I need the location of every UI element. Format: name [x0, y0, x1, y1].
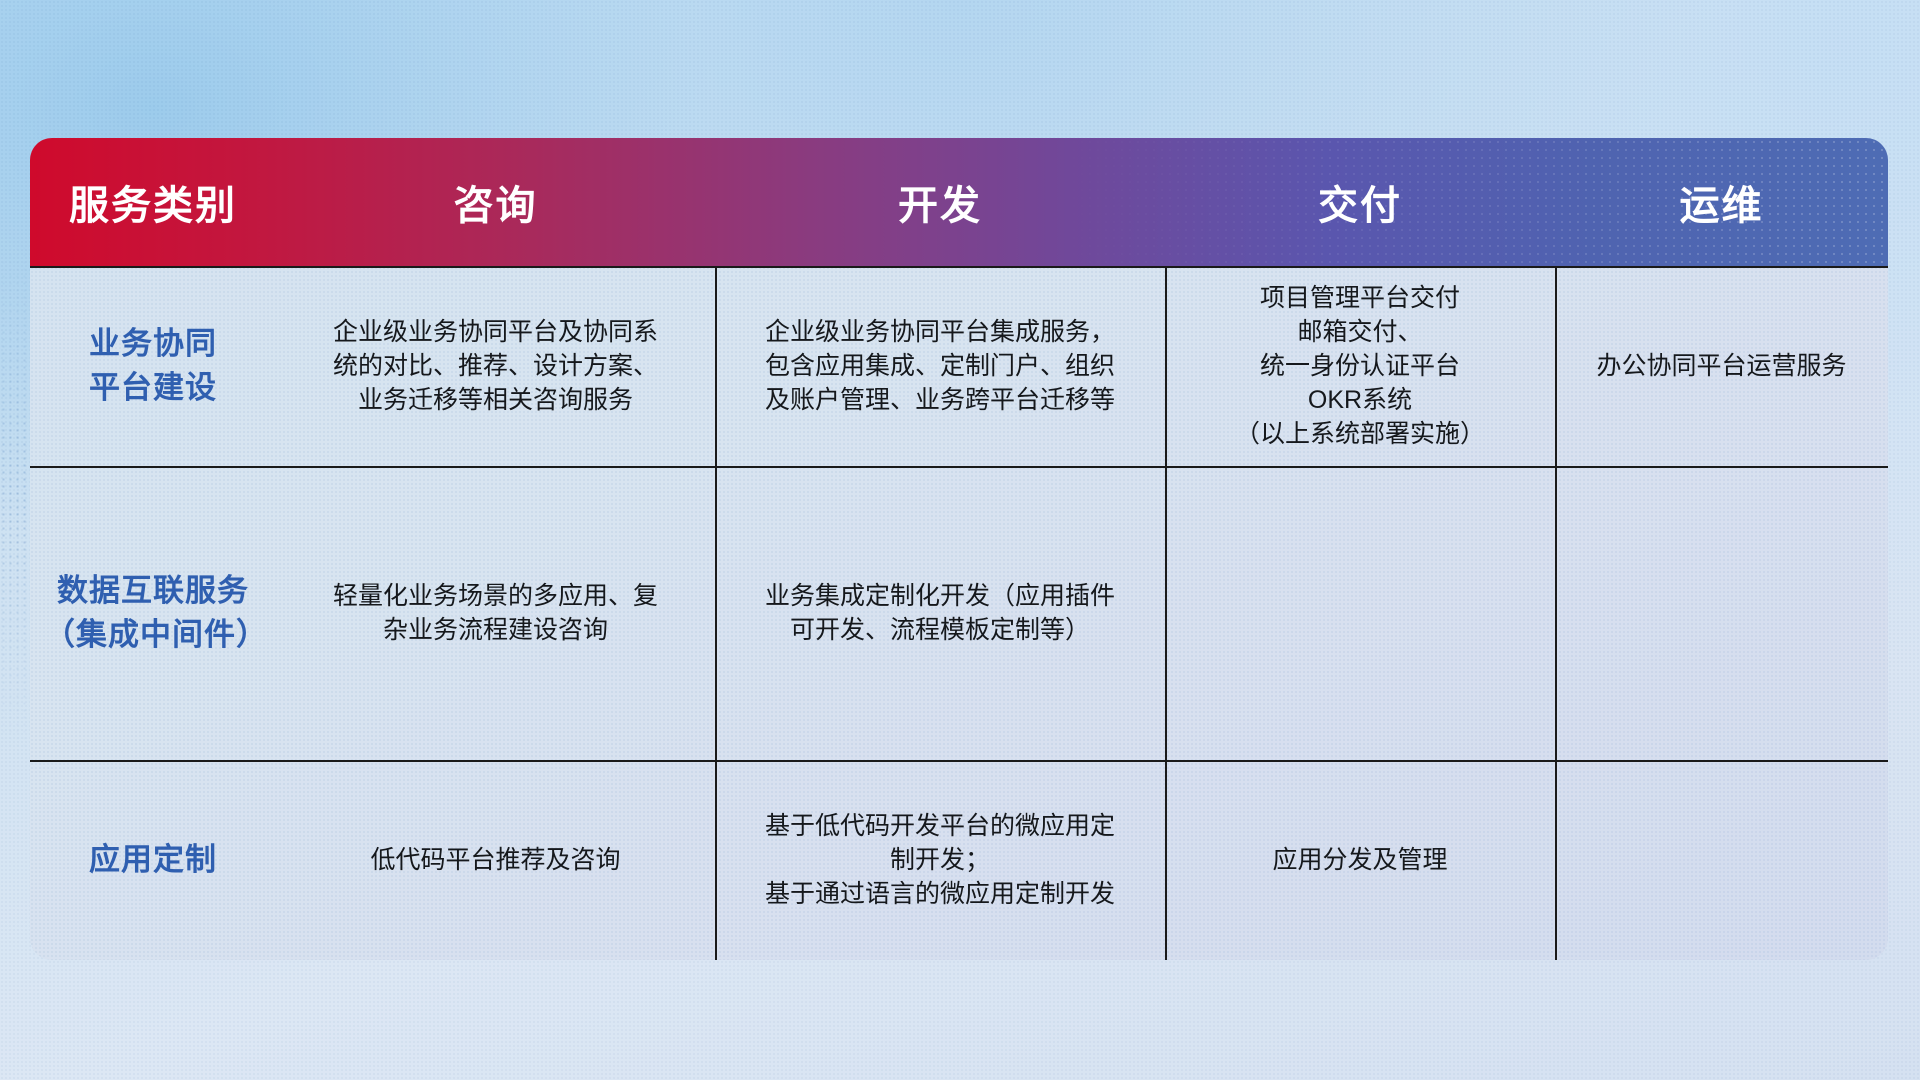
- cell-1-develop: 企业级业务协同平台集成服务， 包含应用集成、定制门户、组织 及账户管理、业务跨平…: [715, 315, 1165, 417]
- row-divider-top: [30, 266, 1888, 268]
- column-header-operate: 运维: [1555, 173, 1888, 231]
- table-header-row: 服务类别 咨询 开发 交付 运维: [30, 138, 1888, 266]
- service-category-table: 服务类别 咨询 开发 交付 运维 业务协同 平台建设 企业级业务协同平台及协同系…: [30, 138, 1888, 960]
- table-row: 数据互联服务 （集成中间件） 轻量化业务场景的多应用、复 杂业务流程建设咨询 业…: [30, 466, 1888, 760]
- row-label-2: 数据互联服务 （集成中间件）: [30, 569, 276, 657]
- column-header-consult: 咨询: [276, 173, 715, 231]
- column-divider-deliver-operate: [1555, 266, 1557, 960]
- cell-2-develop: 业务集成定制化开发（应用插件 可开发、流程模板定制等）: [715, 579, 1165, 647]
- row-divider-1-2: [30, 466, 1888, 468]
- row-label-1: 业务协同 平台建设: [30, 322, 276, 410]
- cell-3-deliver: 应用分发及管理: [1165, 843, 1555, 877]
- cell-3-consult: 低代码平台推荐及咨询: [276, 843, 715, 877]
- cell-1-operate: 办公协同平台运营服务: [1555, 349, 1888, 383]
- cell-1-deliver: 项目管理平台交付 邮箱交付、 统一身份认证平台 OKR系统 （以上系统部署实施）: [1165, 281, 1555, 451]
- table-row: 业务协同 平台建设 企业级业务协同平台及协同系 统的对比、推荐、设计方案、 业务…: [30, 266, 1888, 466]
- cell-2-consult: 轻量化业务场景的多应用、复 杂业务流程建设咨询: [276, 579, 715, 647]
- table-body: 业务协同 平台建设 企业级业务协同平台及协同系 统的对比、推荐、设计方案、 业务…: [30, 266, 1888, 960]
- column-header-develop: 开发: [715, 173, 1165, 231]
- column-divider-develop-deliver: [1165, 266, 1167, 960]
- row-label-3: 应用定制: [30, 838, 276, 882]
- table-row: 应用定制 低代码平台推荐及咨询 基于低代码开发平台的微应用定 制开发； 基于通过…: [30, 760, 1888, 960]
- cell-1-consult: 企业级业务协同平台及协同系 统的对比、推荐、设计方案、 业务迁移等相关咨询服务: [276, 315, 715, 417]
- column-header-deliver: 交付: [1165, 173, 1555, 231]
- column-divider-consult-develop: [715, 266, 717, 960]
- row-divider-2-3: [30, 760, 1888, 762]
- cell-3-develop: 基于低代码开发平台的微应用定 制开发； 基于通过语言的微应用定制开发: [715, 809, 1165, 911]
- column-header-category: 服务类别: [30, 173, 276, 231]
